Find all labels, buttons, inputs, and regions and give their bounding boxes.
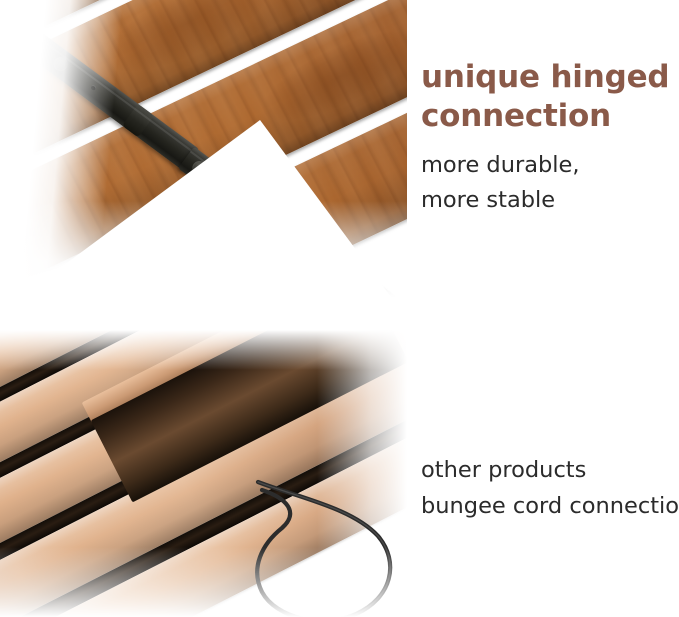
subheadline-group: more durable, more stable	[421, 148, 679, 218]
screw-hole	[26, 37, 33, 44]
subheadline-line-1: more durable,	[421, 148, 679, 183]
hinge-rail-lower	[178, 147, 407, 297]
other-products-line-2: bungee cord connection	[421, 488, 679, 524]
hinge-assembly	[0, 0, 407, 297]
hinge-rail-upper	[0, 0, 199, 171]
headline-line-2: connection	[421, 97, 679, 136]
photo-hinged-connection	[0, 0, 407, 297]
hinge-knuckle	[122, 104, 154, 138]
screw-hole	[90, 84, 97, 91]
photo-bungee-cord-connection	[0, 330, 407, 617]
callout-hinged-connection: unique hinged connection more durable, m…	[421, 58, 679, 217]
infographic-page: unique hinged connection more durable, m…	[0, 0, 679, 617]
screw-hole	[342, 272, 349, 279]
subheadline-line-2: more stable	[421, 183, 679, 218]
hinge-pivot	[51, 54, 71, 74]
screw-hole	[279, 226, 286, 233]
aluminium-slat-rail	[0, 330, 407, 617]
headline-line-1: unique hinged	[421, 58, 679, 97]
screw-hole	[226, 186, 233, 193]
other-products-line-1: other products	[421, 452, 679, 488]
callout-bungee-cord-connection: other products bungee cord connection	[421, 452, 679, 525]
hinge-pivot	[190, 158, 210, 178]
